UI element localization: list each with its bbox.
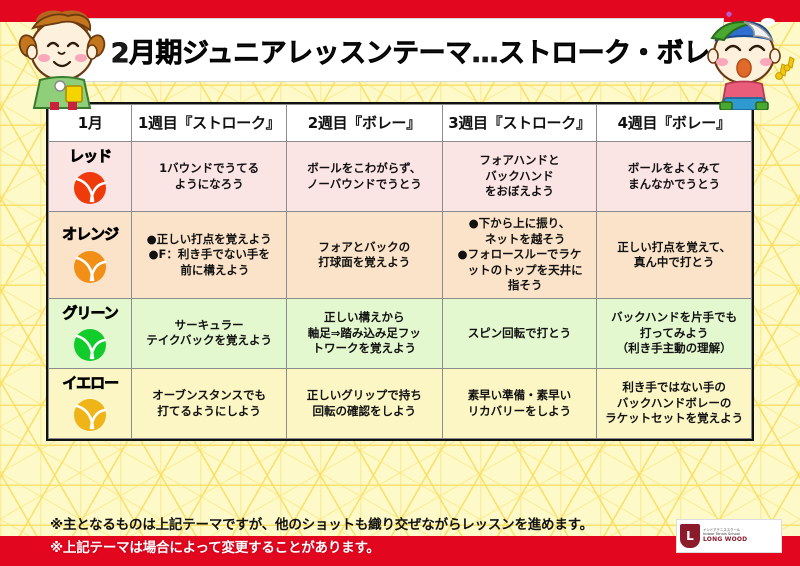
cell-week4: 利き手ではない手のバックハンドボレーのラケットセットを覚えよう bbox=[597, 369, 752, 439]
level-cell-red: レッド bbox=[49, 142, 132, 212]
header-month: 1月 bbox=[49, 105, 132, 142]
level-label: オレンジ bbox=[52, 224, 128, 244]
cell-week1: オーブンスタンスでも打てるようにしよう bbox=[132, 369, 287, 439]
poster-page: 1・2月期ジュニアレッスンテーマ…ストローク・ボレー 1月 1週目『ストローク』… bbox=[0, 0, 800, 566]
singing-boy-icon bbox=[692, 6, 796, 110]
cell-week1: 1バウンドでうてるようになろう bbox=[132, 142, 287, 212]
tennis-ball-icon bbox=[71, 169, 109, 207]
note-primary: ※主となるものは上記テーマですが、他のショットも織り交ぜながらレッスンを進めます… bbox=[50, 513, 593, 533]
header-week4: 4週目『ボレー』 bbox=[597, 105, 752, 142]
table-row: オレンジ ●正しい打点を覚えよう●F：利き手でない手を 前に構えよう フォアとバ… bbox=[49, 212, 752, 299]
cell-week1: サーキュラーテイクバックを覚えよう bbox=[132, 298, 287, 368]
level-cell-orange: オレンジ bbox=[49, 212, 132, 299]
page-title: 1・2月期ジュニアレッスンテーマ…ストローク・ボレー bbox=[66, 31, 736, 70]
level-label: イエロー bbox=[52, 373, 128, 393]
header-week2: 2週目『ボレー』 bbox=[286, 105, 442, 142]
cell-week3: ●下から上に振り、 ネットを越そう●フォロースルーでラケ ットのトップを天井に … bbox=[442, 212, 597, 299]
cell-week4: ボールをよくみてまんなかでうとう bbox=[597, 142, 752, 212]
cell-week2: 正しい構えから軸足⇒踏み込み足フットワークを覚えよう bbox=[286, 298, 442, 368]
level-label: グリーン bbox=[52, 303, 128, 323]
cell-week3: フォアハンドとバックハンドをおぼえよう bbox=[442, 142, 597, 212]
note-secondary: ※上記テーマは場合によって変更することがあります。 bbox=[50, 536, 380, 556]
kimono-girl-icon bbox=[6, 6, 118, 110]
tennis-ball-icon bbox=[71, 396, 109, 434]
lesson-theme-table: 1月 1週目『ストローク』 2週目『ボレー』 3週目『ストローク』 4週目『ボレ… bbox=[48, 104, 752, 439]
cell-week4: 正しい打点を覚えて、真ん中で打とう bbox=[597, 212, 752, 299]
table-row: イエロー オーブンスタンスでも打てるようにしよう 正しいグリップで持ち回転の確認… bbox=[49, 369, 752, 439]
logo-text-block: インドアテニススクール Indoor Tennis School LONG WO… bbox=[703, 529, 747, 543]
cell-week2: ボールをこわがらず、ノーバウンドでうとう bbox=[286, 142, 442, 212]
table-row: グリーン サーキュラーテイクバックを覚えよう 正しい構えから軸足⇒踏み込み足フッ… bbox=[49, 298, 752, 368]
cell-week3: スピン回転で打とう bbox=[442, 298, 597, 368]
cell-week3: 素早い準備・素早いリカバリーをしよう bbox=[442, 369, 597, 439]
table-row: レッド 1バウンドでうてるようになろう ボールをこわがらず、ノーバウンドでうとう… bbox=[49, 142, 752, 212]
cell-week4: バックハンドを片手でも打ってみよう（利き手主動の理解） bbox=[597, 298, 752, 368]
header-week3: 3週目『ストローク』 bbox=[442, 105, 597, 142]
level-cell-green: グリーン bbox=[49, 298, 132, 368]
cell-week2: フォアとバックの打球面を覚えよう bbox=[286, 212, 442, 299]
tennis-ball-icon bbox=[71, 248, 109, 286]
header-week1: 1週目『ストローク』 bbox=[132, 105, 287, 142]
cell-week1: ●正しい打点を覚えよう●F：利き手でない手を 前に構えよう bbox=[132, 212, 287, 299]
logo-name: LONG WOOD bbox=[703, 537, 747, 543]
table-body: レッド 1バウンドでうてるようになろう ボールをこわがらず、ノーバウンドでうとう… bbox=[49, 142, 752, 439]
logo-crest-icon: L bbox=[680, 524, 700, 548]
longwood-logo: L インドアテニススクール Indoor Tennis School LONG … bbox=[676, 519, 782, 553]
cell-week2: 正しいグリップで持ち回転の確認をしよう bbox=[286, 369, 442, 439]
table-header-row: 1月 1週目『ストローク』 2週目『ボレー』 3週目『ストローク』 4週目『ボレ… bbox=[49, 105, 752, 142]
level-label: レッド bbox=[52, 146, 128, 166]
tennis-ball-icon bbox=[71, 326, 109, 364]
title-banner: 1・2月期ジュニアレッスンテーマ…ストローク・ボレー bbox=[78, 18, 724, 82]
level-cell-yellow: イエロー bbox=[49, 369, 132, 439]
